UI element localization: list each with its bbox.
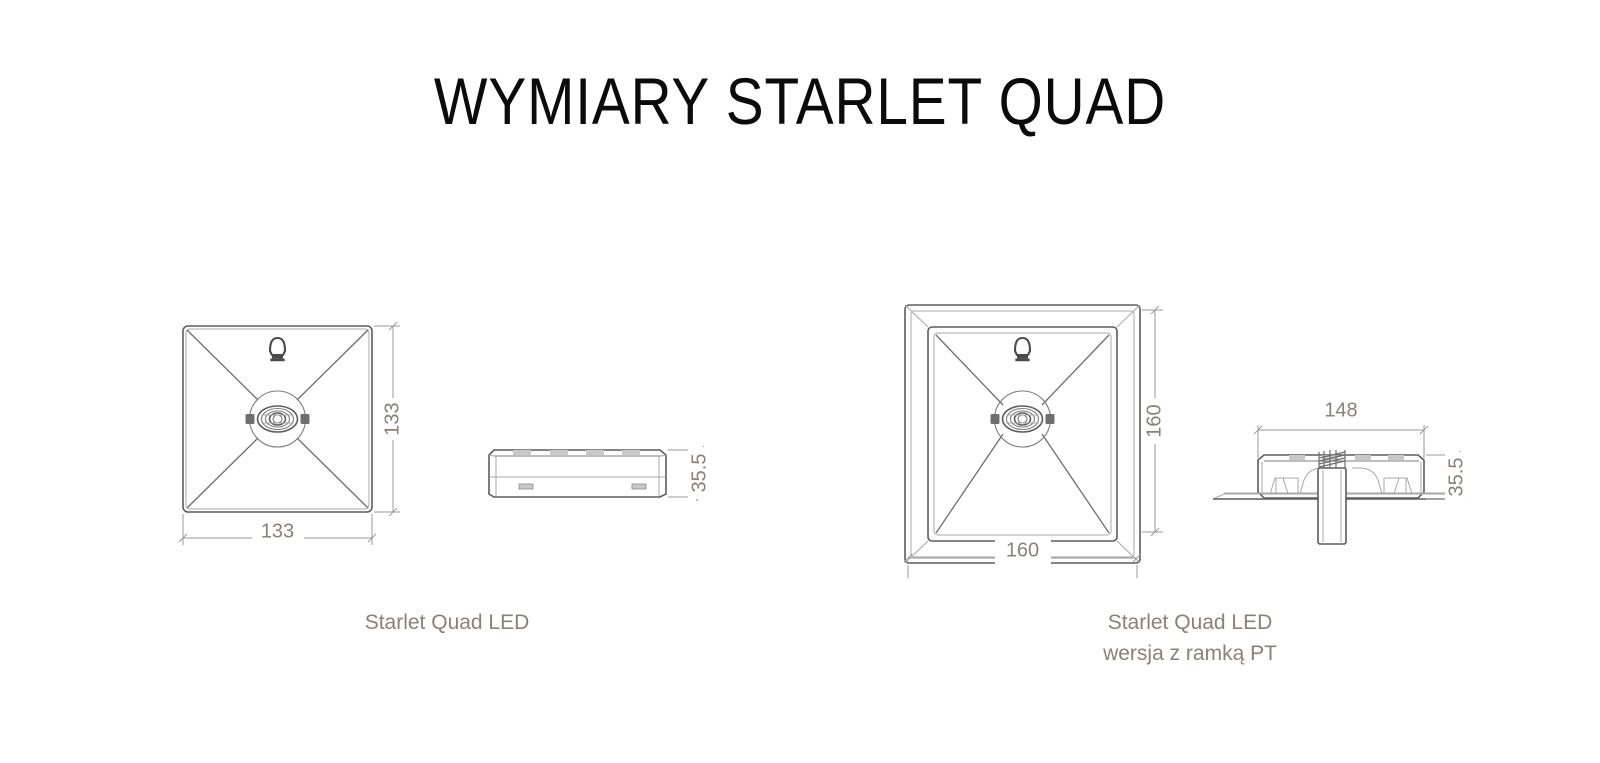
right-profile-height-dimension-label: 35.5 [1445, 458, 1467, 497]
caption-left: Starlet Quad LED [297, 607, 597, 638]
right-side-top-notches [1289, 455, 1404, 460]
caption-right: Starlet Quad LED wersja z ramką PT [1040, 607, 1340, 669]
slide-root: WYMIARY STARLET QUAD [0, 0, 1600, 763]
lamp-socket-icon [991, 391, 1055, 447]
right-width-dimension-label: 160 [1006, 539, 1039, 561]
left-profile-height-dimension-label: 35.5 [688, 454, 710, 493]
lamp-socket-icon [246, 391, 310, 447]
right-height-dimension-label: 160 [1143, 404, 1165, 437]
left-side-view [489, 450, 666, 497]
left-plan-view [183, 326, 372, 512]
left-diagonals [187, 330, 368, 508]
right-profile-width-dimension-label: 148 [1324, 399, 1357, 421]
light-bulb-icon [1015, 338, 1030, 361]
left-square-outline [183, 326, 372, 512]
frame-outer-outline [905, 305, 1140, 563]
page-title: WYMIARY STARLET QUAD [112, 62, 1488, 140]
left-width-dimension-label: 133 [261, 520, 294, 542]
right-plan-view [905, 305, 1140, 563]
left-side-top-notches [513, 450, 640, 455]
frame-mitre-lines [905, 305, 1140, 563]
right-side-view [1213, 450, 1470, 544]
left-profile-height-dimension: 35.5 [668, 446, 714, 501]
left-height-dimension-label: 133 [381, 402, 403, 435]
light-bulb-icon [270, 338, 285, 361]
right-profile-width-dimension: 148 [1254, 398, 1428, 458]
right-width-dimension: 160 [904, 538, 1141, 578]
right-diagonals [936, 335, 1109, 533]
frame-inner-outline [928, 327, 1117, 541]
right-height-dimension: 160 [1142, 306, 1169, 536]
left-square-inner-outline [186, 329, 369, 509]
right-profile-height-dimension: 35.5 [1426, 451, 1471, 504]
left-side-mid-tabs [519, 484, 646, 489]
cable-gland-stem [1318, 468, 1346, 544]
left-height-dimension: 133 [374, 322, 406, 516]
gland-thread-coil [1319, 450, 1345, 468]
left-width-dimension: 133 [179, 514, 376, 545]
